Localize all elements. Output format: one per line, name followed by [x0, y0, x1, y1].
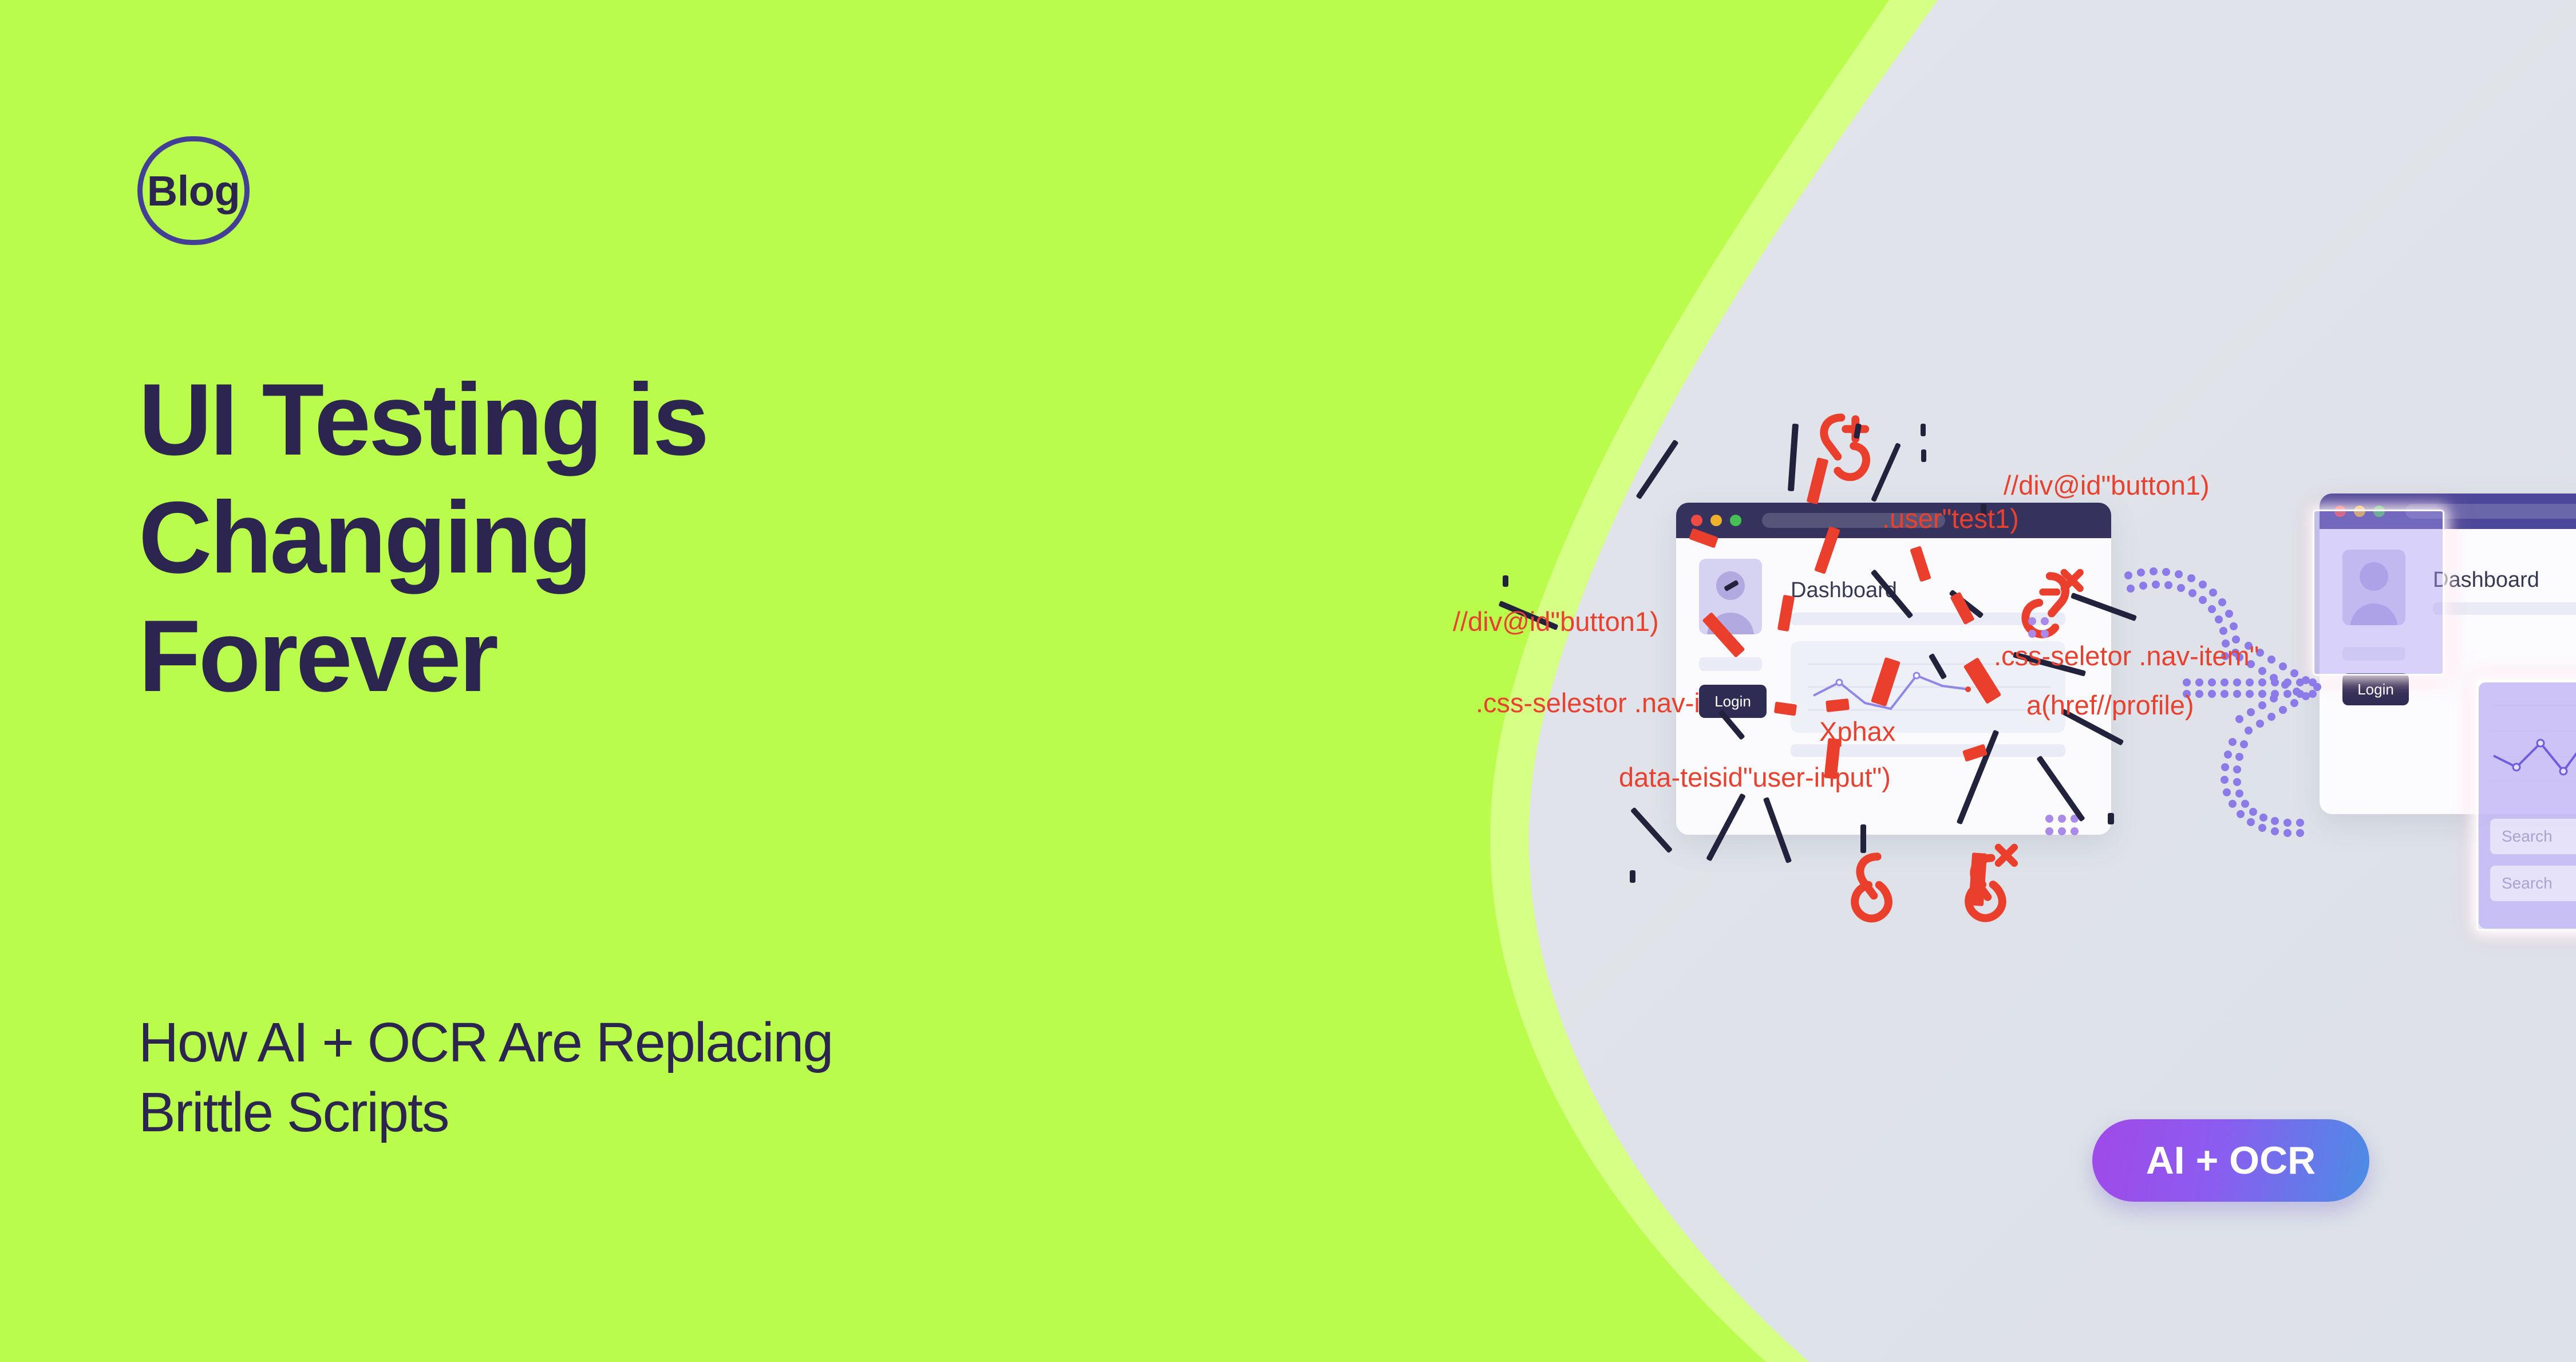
- burst-shard: [1503, 575, 1508, 587]
- minimize-icon[interactable]: [1710, 515, 1722, 526]
- ai-ocr-badge[interactable]: AI + OCR: [2092, 1119, 2369, 1202]
- page-subtitle: How AI + OCR Are Replacing Brittle Scrip…: [139, 1008, 1455, 1147]
- burst-shard: [1921, 449, 1926, 462]
- blog-badge[interactable]: Blog: [137, 136, 250, 245]
- annotation-text: .css-selestor .nav-i: [1476, 687, 1700, 718]
- skeleton-line: [1791, 613, 2065, 625]
- search-placeholder-1: Search: [2502, 827, 2553, 846]
- clean-window-chart-panel: Search Search: [2479, 682, 2576, 929]
- broken-link-icon: [1855, 856, 1888, 918]
- search-input-1[interactable]: Search: [2490, 819, 2576, 854]
- burst-shard: [1788, 424, 1799, 491]
- search-input-2[interactable]: Search: [2490, 866, 2576, 901]
- burst-shard-red: [1807, 457, 1829, 504]
- burst-shard-red: [1826, 698, 1850, 712]
- skeleton-line: [1699, 657, 1762, 671]
- burst-shard: [1635, 439, 1678, 499]
- maximize-icon[interactable]: [1730, 515, 1741, 526]
- subhead-line-1: How AI + OCR Are Replacing: [139, 1008, 1455, 1077]
- headline-line-3: Forever: [139, 597, 1283, 715]
- subhead-line-2: Brittle Scripts: [139, 1077, 1455, 1147]
- blog-badge-label: Blog: [147, 167, 240, 215]
- search-placeholder-2: Search: [2502, 874, 2553, 893]
- login-button-label: Login: [2357, 681, 2394, 698]
- illustration-area: Dashboard Login: [1374, 0, 2576, 1362]
- ocr-highlight-box-left: [2313, 510, 2444, 676]
- login-button[interactable]: Login: [1699, 685, 1767, 718]
- annotation-text: //div@id"button1): [1453, 606, 1659, 637]
- burst-shard: [1871, 443, 1901, 502]
- headline-line-2: Changing: [139, 479, 1283, 597]
- burst-shard: [1630, 870, 1635, 883]
- page-title: UI Testing is Changing Forever: [139, 361, 1283, 715]
- skeleton-line: [2433, 602, 2576, 615]
- burst-shard-red: [1969, 852, 1987, 906]
- annotation-text: a(href//profile): [2026, 689, 2194, 721]
- line-chart-clean: [2479, 682, 2576, 791]
- annotation-text: .user"test1): [1882, 503, 2019, 534]
- annotation-text: //div@id"button1): [2004, 469, 2210, 501]
- annotation-text: .css-seletor .nav-item": [1994, 640, 2259, 672]
- login-button-clean[interactable]: Login: [2342, 673, 2409, 705]
- burst-shard: [2108, 813, 2114, 824]
- left-content-column: Blog UI Testing is Changing Forever How …: [137, 0, 1454, 1362]
- burst-shard: [1921, 424, 1926, 436]
- burst-shard: [1630, 807, 1673, 853]
- burst-shard: [1860, 824, 1866, 853]
- annotation-text: data-teisid"user-input"): [1619, 761, 1891, 793]
- login-button-label: Login: [1714, 693, 1751, 710]
- headline-line-1: UI Testing is: [139, 361, 1283, 479]
- close-icon[interactable]: [1691, 515, 1702, 526]
- burst-shard: [1854, 423, 1862, 439]
- annotation-text: Xphax: [1819, 716, 1895, 747]
- ai-ocr-badge-label: AI + OCR: [2146, 1138, 2316, 1183]
- poster-canvas: Blog UI Testing is Changing Forever How …: [0, 0, 2576, 1362]
- dashboard-heading-clean: Dashboard: [2433, 568, 2539, 593]
